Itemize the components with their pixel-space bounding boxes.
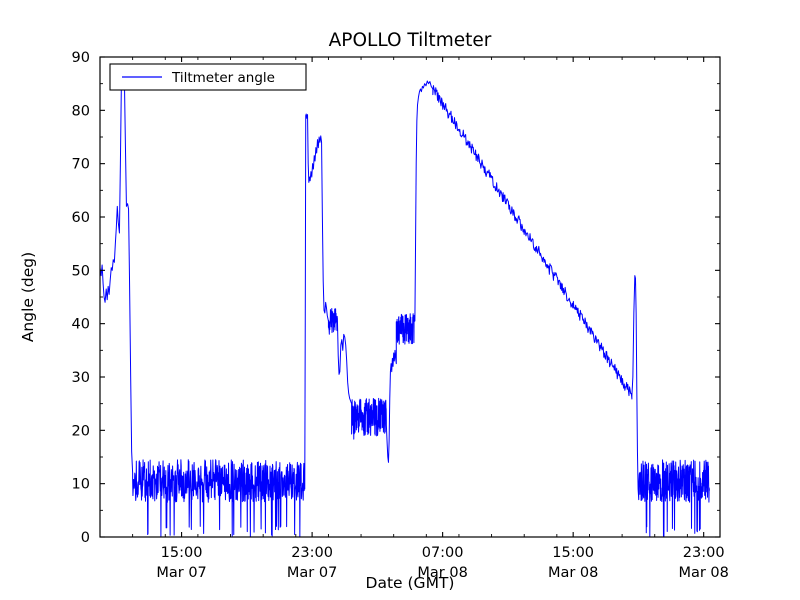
y-tick-label: 10	[72, 477, 90, 493]
legend[interactable]: Tiltmeter angle	[110, 64, 306, 90]
y-tick-label: 70	[72, 157, 90, 173]
x-tick-label-date: Mar 08	[678, 565, 728, 581]
y-tick-label: 80	[72, 103, 90, 119]
tiltmeter-chart: APOLLO Tiltmeter 0102030405060708090 15:…	[0, 0, 800, 600]
x-tick-label-date: Mar 07	[287, 565, 337, 581]
x-tick-label-time: 15:00	[552, 545, 594, 561]
y-tick-label: 0	[81, 530, 90, 546]
figure-canvas: APOLLO Tiltmeter 0102030405060708090 15:…	[0, 0, 800, 600]
x-axis-label: Date (GMT)	[366, 574, 455, 592]
x-tick-label-date: Mar 08	[548, 565, 598, 581]
y-tick-label: 40	[72, 317, 90, 333]
x-tick-label-date: Mar 07	[156, 565, 206, 581]
plot-area	[100, 57, 720, 537]
y-axis-label: Angle (deg)	[19, 252, 37, 342]
chart-title: APOLLO Tiltmeter	[329, 30, 492, 51]
x-tick-label-time: 15:00	[161, 545, 203, 561]
legend-label-tiltmeter-angle: Tiltmeter angle	[171, 70, 275, 86]
y-tick-label: 30	[72, 370, 90, 386]
y-tick-label: 50	[72, 263, 90, 279]
x-tick-label-time: 23:00	[291, 545, 333, 561]
y-tick-label: 90	[72, 50, 90, 66]
x-tick-label-time: 07:00	[422, 545, 464, 561]
x-tick-label-time: 23:00	[683, 545, 725, 561]
y-tick-label: 60	[72, 210, 90, 226]
y-tick-label: 20	[72, 423, 90, 439]
